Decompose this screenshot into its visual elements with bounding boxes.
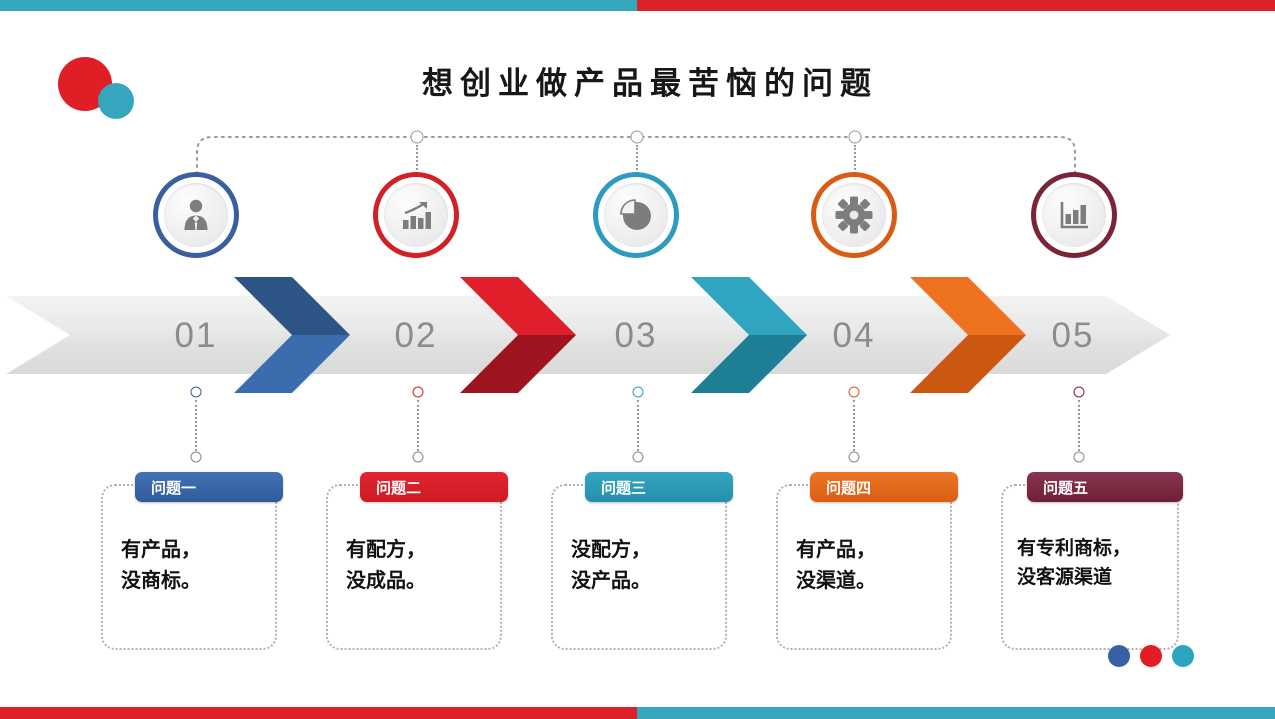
brand-logo <box>58 57 138 119</box>
problem-card-text-03: 没配方， 没产品。 <box>571 534 715 596</box>
chevron-04-05 <box>910 277 1026 393</box>
dot-blue-icon <box>1108 645 1130 667</box>
problem-card-01[interactable]: 问题一 有产品， 没商标。 <box>101 484 277 650</box>
problem-card-03[interactable]: 问题三 没配方， 没产品。 <box>551 484 727 650</box>
problem-card-label-02: 问题二 <box>360 472 508 502</box>
bar-chart-growth-icon <box>378 177 454 253</box>
problem-card-label-01: 问题一 <box>135 472 283 502</box>
top-accent-bar-left <box>0 0 637 11</box>
drop-ring-bottom-05 <box>1074 452 1085 463</box>
step-number-05: 05 <box>1013 316 1133 356</box>
step-icon-02[interactable] <box>378 177 454 253</box>
problem-card-label-05: 问题五 <box>1027 472 1183 502</box>
chevron-03-04 <box>691 277 807 393</box>
step-icon-01[interactable] <box>158 177 234 253</box>
chevron-01-02 <box>234 277 350 393</box>
drop-line-01 <box>195 400 197 451</box>
step-icon-03[interactable] <box>598 177 674 253</box>
drop-ring-bottom-02 <box>413 452 424 463</box>
drop-ring-bottom-01 <box>191 452 202 463</box>
top-accent-bar-right <box>637 0 1275 11</box>
slide-canvas: 想创业做产品最苦恼的问题 <box>0 0 1275 719</box>
chevron-02-03 <box>460 277 576 393</box>
drop-line-02 <box>417 400 419 451</box>
step-icon-05[interactable] <box>1036 177 1112 253</box>
drop-ring-top-05 <box>1074 387 1085 398</box>
problem-card-02[interactable]: 问题二 有配方， 没成品。 <box>326 484 502 650</box>
drop-ring-top-02 <box>413 387 424 398</box>
drop-ring-top-04 <box>849 387 860 398</box>
decorative-dots <box>1108 645 1200 667</box>
pie-chart-icon <box>598 177 674 253</box>
drop-line-03 <box>637 400 639 451</box>
problem-card-text-04: 有产品， 没渠道。 <box>796 534 940 596</box>
bottom-accent-bar-left <box>0 707 637 719</box>
step-number-04: 04 <box>794 316 914 356</box>
dot-red-icon <box>1140 645 1162 667</box>
businessman-icon <box>158 177 234 253</box>
step-number-02: 02 <box>356 316 476 356</box>
connector-node-02 <box>411 131 424 144</box>
gear-icon <box>816 177 892 253</box>
logo-circle-teal-icon <box>98 83 134 119</box>
drop-ring-top-03 <box>633 387 644 398</box>
connector-node-03 <box>631 131 644 144</box>
problem-card-05[interactable]: 问题五 有专利商标， 没客源渠道 <box>1001 484 1179 650</box>
dot-teal-icon <box>1172 645 1194 667</box>
drop-ring-bottom-03 <box>633 452 644 463</box>
connector-node-04 <box>849 131 862 144</box>
connector-drop-02 <box>416 145 418 177</box>
problem-card-text-05: 有专利商标， 没客源渠道 <box>1017 534 1167 593</box>
bar-chart-axis-icon <box>1036 177 1112 253</box>
problem-card-label-04: 问题四 <box>810 472 958 502</box>
connector-drop-03 <box>636 145 638 177</box>
bottom-accent-bar-right <box>637 707 1275 719</box>
drop-line-05 <box>1078 400 1080 451</box>
problem-card-label-03: 问题三 <box>585 472 733 502</box>
problem-card-text-01: 有产品， 没商标。 <box>121 534 265 596</box>
page-title: 想创业做产品最苦恼的问题 <box>320 58 980 103</box>
connector-drop-04 <box>854 145 856 177</box>
problem-card-04[interactable]: 问题四 有产品， 没渠道。 <box>776 484 952 650</box>
step-icon-04[interactable] <box>816 177 892 253</box>
drop-line-04 <box>853 400 855 451</box>
drop-ring-bottom-04 <box>849 452 860 463</box>
drop-ring-top-01 <box>191 387 202 398</box>
problem-card-text-02: 有配方， 没成品。 <box>346 534 490 596</box>
step-number-03: 03 <box>576 316 696 356</box>
